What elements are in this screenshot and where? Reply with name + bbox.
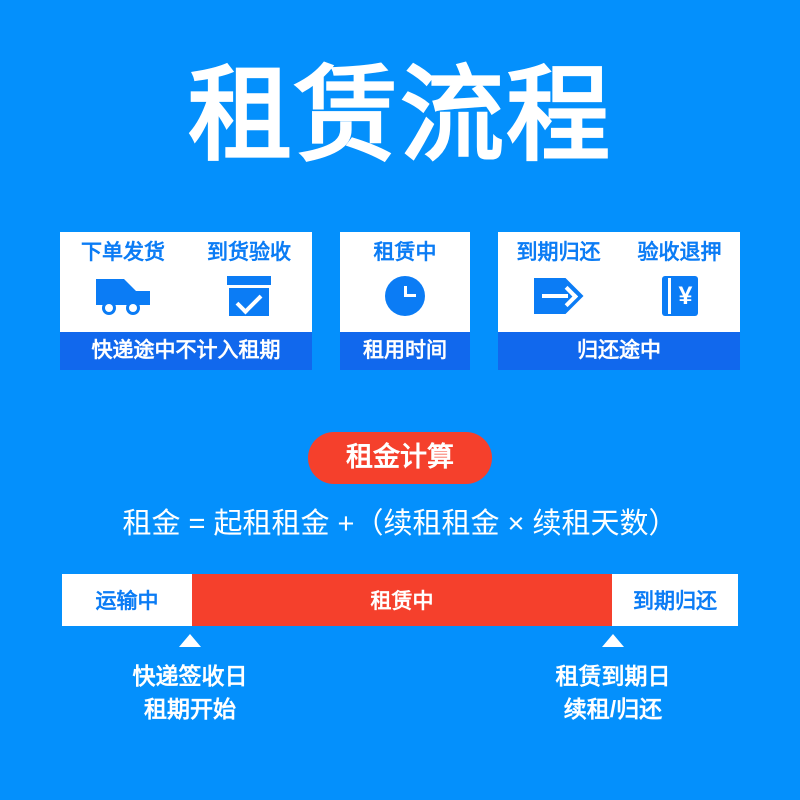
annotation-line-2: 租期开始 (100, 693, 280, 726)
annotation-line-2: 续租/归还 (523, 693, 703, 726)
timeline-segment-rental: 租赁中 (192, 574, 612, 626)
step-label: 验收退押 (638, 241, 722, 265)
timeline-annotation-start: 快递签收日 租期开始 (100, 660, 280, 726)
step-card-shipping: 下单发货 到货验收 (60, 232, 312, 370)
step-card-body: 租赁中 (340, 232, 470, 332)
step-label: 到期归还 (517, 241, 601, 265)
process-steps-row: 下单发货 到货验收 (60, 232, 740, 370)
rental-timeline: 运输中 租赁中 到期归还 (62, 574, 738, 626)
triangle-up-icon (602, 634, 624, 647)
step-card-body: 下单发货 到货验收 (60, 232, 312, 332)
step-cell-order-ship: 下单发货 (60, 232, 186, 332)
step-label: 下单发货 (81, 241, 165, 265)
rent-formula: 租金 = 起租租金 +（续租租金 × 续租天数） (0, 504, 800, 544)
annotation-line-1: 租赁到期日 (523, 660, 703, 693)
rent-calc-badge: 租金计算 (308, 432, 492, 484)
yen-book-icon: ¥ (662, 274, 698, 318)
step-cell-arrival-check: 到货验收 (186, 232, 312, 332)
annotation-line-1: 快递签收日 (100, 660, 280, 693)
timeline-segment-transit: 运输中 (62, 574, 192, 626)
truck-icon (96, 274, 150, 318)
step-label: 租赁中 (374, 241, 437, 265)
rental-process-infographic: 租赁流程 下单发货 到货验收 (0, 0, 800, 800)
timeline-segment-due-return: 到期归还 (612, 574, 738, 626)
timeline-annotation-end: 租赁到期日 续租/归还 (523, 660, 703, 726)
step-card-returning: 到期归还 验收退押 ¥ (498, 232, 740, 370)
step-footer-label: 归还途中 (498, 332, 740, 370)
step-footer-label: 租用时间 (340, 332, 470, 370)
step-footer-label: 快递途中不计入租期 (60, 332, 312, 370)
step-cell-deposit-refund: 验收退押 ¥ (619, 232, 740, 332)
step-card-renting: 租赁中 租用时间 (340, 232, 470, 370)
clock-icon (385, 274, 425, 318)
triangle-up-icon (179, 634, 201, 647)
box-check-icon (227, 274, 271, 318)
step-card-body: 到期归还 验收退押 ¥ (498, 232, 740, 332)
step-label: 到货验收 (207, 241, 291, 265)
arrow-right-icon (534, 274, 584, 318)
page-title: 租赁流程 (0, 56, 800, 176)
step-cell-due-return: 到期归还 (498, 232, 619, 332)
step-cell-in-rental: 租赁中 (340, 232, 470, 332)
